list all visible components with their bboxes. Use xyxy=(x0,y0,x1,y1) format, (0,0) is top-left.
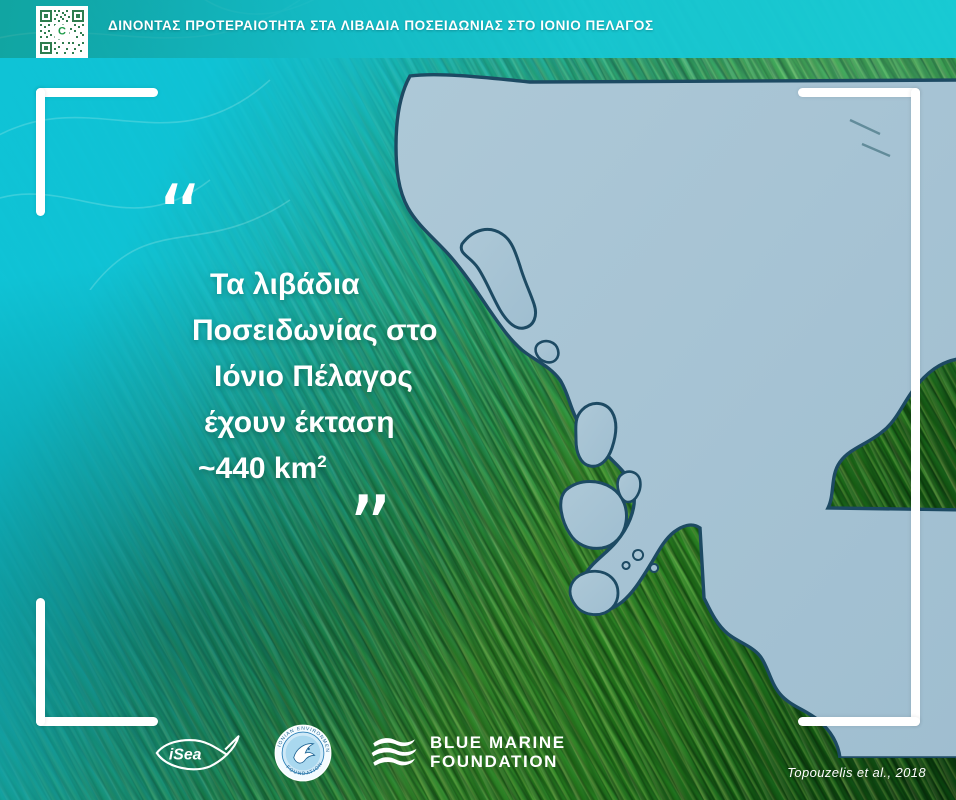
zakynthos-island xyxy=(570,571,618,614)
qr-center-logo-icon: C xyxy=(55,25,70,40)
source-credit: Topouzelis et al., 2018 xyxy=(787,765,926,780)
isea-fish-icon: iSea xyxy=(150,733,242,773)
quote-line-5: ~440 km2 xyxy=(148,446,508,492)
ionian-environment-foundation-logo[interactable]: IONIAN ENVIRONMENT FOUNDATION xyxy=(274,724,332,782)
blue-marine-foundation-logo[interactable]: BLUE MARINE FOUNDATION xyxy=(368,729,566,777)
qr-code-icon[interactable]: C xyxy=(36,6,88,58)
bmf-wordmark: BLUE MARINE FOUNDATION xyxy=(430,734,566,771)
bmf-line-2: FOUNDATION xyxy=(430,753,566,772)
poster-root: C ΔΙΝΟΝΤΑΣ ΠΡΟΤΕΡΑΙΟΤΗΤΑ ΣΤΑ ΛΙΒΑΔΙΑ ΠΟΣ… xyxy=(0,0,956,800)
isea-logo[interactable]: iSea xyxy=(150,733,238,773)
ithaca-island xyxy=(618,472,641,502)
quote-close-mark: ” xyxy=(348,507,508,549)
ief-circular-badge-icon: IONIAN ENVIRONMENT FOUNDATION xyxy=(274,724,332,782)
footer-logo-row: iSea IONIAN ENVIRONMENT FOUNDATION xyxy=(150,724,566,782)
quote-superscript: 2 xyxy=(317,452,326,471)
quote-block: “ Τα λιβάδια Ποσειδωνίας στο Ιόνιο Πέλαγ… xyxy=(148,196,508,549)
quote-line-1: Τα λιβάδια xyxy=(148,262,508,308)
quote-open-mark: “ xyxy=(158,196,508,242)
svg-text:iSea: iSea xyxy=(169,747,202,764)
kefalonia-island xyxy=(561,482,627,549)
paxos-island xyxy=(536,341,559,362)
quote-line-5-text: ~440 km xyxy=(198,452,317,485)
quote-line-3: Ιόνιο Πέλαγος xyxy=(148,354,508,400)
bmf-waves-icon xyxy=(368,729,420,777)
quote-line-2: Ποσειδωνίας στο xyxy=(148,308,508,354)
bmf-line-1: BLUE MARINE xyxy=(430,734,566,753)
quote-text: Τα λιβάδια Ποσειδωνίας στο Ιόνιο Πέλαγος… xyxy=(148,262,508,491)
page-title: ΔΙΝΟΝΤΑΣ ΠΡΟΤΕΡΑΙΟΤΗΤΑ ΣΤΑ ΛΙΒΑΔΙΑ ΠΟΣΕΙ… xyxy=(108,18,654,33)
header-bar: C ΔΙΝΟΝΤΑΣ ΠΡΟΤΕΡΑΙΟΤΗΤΑ ΣΤΑ ΛΙΒΑΔΙΑ ΠΟΣ… xyxy=(0,0,956,58)
quote-line-4: έχουν έκταση xyxy=(148,400,508,446)
